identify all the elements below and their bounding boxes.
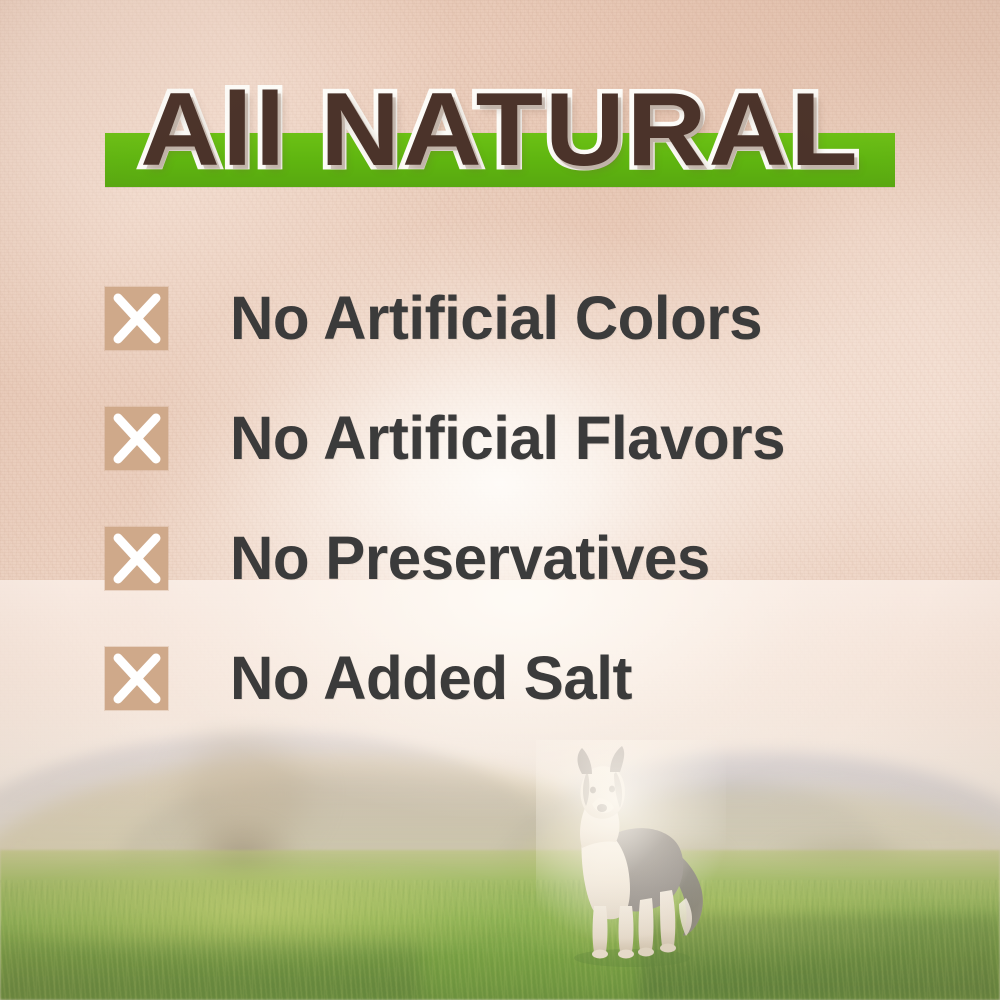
page-title: All NATURAL [0, 74, 1000, 186]
x-mark-icon [105, 287, 168, 350]
headline-banner: All NATURAL [0, 74, 1000, 198]
grass-blade-texture [0, 880, 1000, 1000]
claim-label: No Artificial Colors [230, 285, 762, 351]
claim-label: No Added Salt [230, 645, 632, 711]
claim-label: No Artificial Flavors [230, 405, 785, 471]
claim-label: No Preservatives [230, 525, 710, 591]
product-feature-poster: All NATURAL No Artificial Colors No Arti… [0, 0, 1000, 1000]
list-item: No Added Salt [105, 618, 925, 738]
x-mark-icon [105, 647, 168, 710]
list-item: No Artificial Flavors [105, 378, 925, 498]
x-mark-icon [105, 407, 168, 470]
border-collie-dog [536, 740, 726, 972]
x-mark-icon [105, 527, 168, 590]
claims-list: No Artificial Colors No Artificial Flavo… [105, 258, 925, 738]
list-item: No Artificial Colors [105, 258, 925, 378]
list-item: No Preservatives [105, 498, 925, 618]
